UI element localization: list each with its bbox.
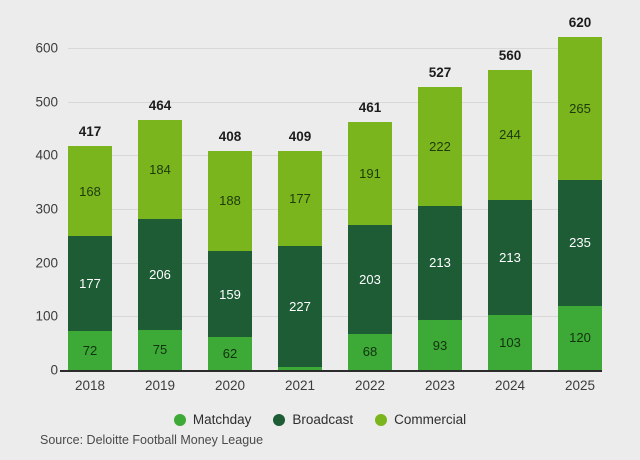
stacked-bar[interactable]: 120235265620 xyxy=(558,37,602,370)
x-axis-tick-label: 2020 xyxy=(208,378,252,393)
bar-segment-value: 75 xyxy=(153,343,167,356)
bar-segment-value: 177 xyxy=(79,277,101,290)
stacked-bar[interactable]: 62159188408 xyxy=(208,151,252,370)
bar-total-label: 408 xyxy=(219,129,242,144)
y-axis-tick-label: 0 xyxy=(50,363,58,378)
bar-segment-value: 206 xyxy=(149,268,171,281)
x-axis-tick-label: 2023 xyxy=(418,378,462,393)
bar-segment-value: 188 xyxy=(219,194,241,207)
bar-segment-commercial[interactable]: 244 xyxy=(488,70,532,201)
bar-segment-commercial[interactable]: 191 xyxy=(348,122,392,225)
bar-column[interactable]: 75206184464 xyxy=(138,48,182,370)
source-caption: Source: Deloitte Football Money League xyxy=(40,433,263,447)
bar-segment-value: 203 xyxy=(359,273,381,286)
x-axis-tick-label: 2025 xyxy=(558,378,602,393)
legend-label: Matchday xyxy=(193,412,252,427)
bar-total-label: 461 xyxy=(359,100,382,115)
bar-segment-broadcast[interactable]: 213 xyxy=(418,206,462,320)
bar-segment-value: 244 xyxy=(499,128,521,141)
x-axis-tick-label: 2019 xyxy=(138,378,182,393)
bar-segment-value: 68 xyxy=(363,345,377,358)
y-axis-tick-label: 600 xyxy=(35,41,58,56)
bar-segment-value: 159 xyxy=(219,288,241,301)
y-axis-tick-label: 400 xyxy=(35,148,58,163)
stacked-bar[interactable]: 72177168417 xyxy=(68,146,112,370)
chart-legend: MatchdayBroadcastCommercial xyxy=(0,412,640,427)
bar-segment-value: 168 xyxy=(79,185,101,198)
x-axis-baseline xyxy=(60,370,602,372)
bar-segment-broadcast[interactable]: 227 xyxy=(278,246,322,368)
bar-column[interactable]: 68203191461 xyxy=(348,48,392,370)
legend-color-swatch-icon xyxy=(174,414,186,426)
bar-segment-value: 265 xyxy=(569,102,591,115)
bar-segment-value: 235 xyxy=(569,236,591,249)
bar-segment-matchday[interactable]: 62 xyxy=(208,337,252,370)
bar-segment-value: 184 xyxy=(149,163,171,176)
stacked-bar[interactable]: 93213222527 xyxy=(418,87,462,370)
stacked-bar[interactable]: 68203191461 xyxy=(348,122,392,370)
bar-column[interactable]: 62159188408 xyxy=(208,48,252,370)
bar-segment-commercial[interactable]: 222 xyxy=(418,87,462,206)
stacked-bar[interactable]: 227177409 xyxy=(278,151,322,370)
bar-segment-matchday[interactable]: 75 xyxy=(138,330,182,370)
bar-column[interactable]: 72177168417 xyxy=(68,48,112,370)
legend-color-swatch-icon xyxy=(375,414,387,426)
bar-total-label: 464 xyxy=(149,98,172,113)
x-axis-tick-label: 2024 xyxy=(488,378,532,393)
bar-segment-broadcast[interactable]: 213 xyxy=(488,200,532,314)
legend-color-swatch-icon xyxy=(273,414,285,426)
bar-segment-commercial[interactable]: 265 xyxy=(558,37,602,179)
y-axis-tick-label: 100 xyxy=(35,309,58,324)
stacked-bar[interactable]: 75206184464 xyxy=(138,120,182,370)
bar-segment-value: 72 xyxy=(83,344,97,357)
bar-segment-broadcast[interactable]: 235 xyxy=(558,180,602,306)
y-axis-tick-label: 200 xyxy=(35,255,58,270)
bar-segment-commercial[interactable]: 177 xyxy=(278,151,322,246)
x-axis-tick-label: 2022 xyxy=(348,378,392,393)
legend-label: Broadcast xyxy=(292,412,353,427)
bar-segment-matchday[interactable]: 120 xyxy=(558,306,602,370)
legend-item[interactable]: Matchday xyxy=(174,412,252,427)
bar-segment-commercial[interactable]: 168 xyxy=(68,146,112,236)
y-axis: 0100200300400500600 xyxy=(0,48,58,370)
bar-segment-broadcast[interactable]: 203 xyxy=(348,225,392,334)
bar-total-label: 409 xyxy=(289,129,312,144)
bar-total-label: 527 xyxy=(429,65,452,80)
bar-segment-value: 222 xyxy=(429,140,451,153)
legend-item[interactable]: Commercial xyxy=(375,412,466,427)
bar-column[interactable]: 103213244560 xyxy=(488,48,532,370)
x-axis-tick-label: 2018 xyxy=(68,378,112,393)
bar-segment-commercial[interactable]: 188 xyxy=(208,151,252,252)
bar-total-label: 620 xyxy=(569,15,592,30)
bar-segment-broadcast[interactable]: 177 xyxy=(68,236,112,331)
bar-segment-matchday[interactable]: 93 xyxy=(418,320,462,370)
bar-group: 7217716841775206184464621591884082271774… xyxy=(68,48,602,370)
bar-segment-value: 177 xyxy=(289,192,311,205)
chart-container: 0100200300400500600 72177168417752061844… xyxy=(0,0,640,460)
stacked-bar[interactable]: 103213244560 xyxy=(488,70,532,371)
x-axis-tick-label: 2021 xyxy=(278,378,322,393)
x-axis-tick-labels: 20182019202020212022202320242025 xyxy=(68,378,602,393)
bar-segment-matchday[interactable]: 72 xyxy=(68,331,112,370)
y-axis-tick-label: 500 xyxy=(35,94,58,109)
bar-segment-commercial[interactable]: 184 xyxy=(138,120,182,219)
bar-total-label: 417 xyxy=(79,124,102,139)
bar-segment-value: 103 xyxy=(499,336,521,349)
legend-label: Commercial xyxy=(394,412,466,427)
bar-segment-value: 62 xyxy=(223,347,237,360)
bar-segment-value: 191 xyxy=(359,167,381,180)
bar-segment-value: 227 xyxy=(289,300,311,313)
y-axis-tick-label: 300 xyxy=(35,202,58,217)
bar-segment-value: 213 xyxy=(499,251,521,264)
plot-area: 7217716841775206184464621591884082271774… xyxy=(68,48,602,370)
bar-segment-value: 93 xyxy=(433,339,447,352)
bar-column[interactable]: 120235265620 xyxy=(558,48,602,370)
bar-total-label: 560 xyxy=(499,48,522,63)
bar-segment-broadcast[interactable]: 159 xyxy=(208,251,252,336)
legend-item[interactable]: Broadcast xyxy=(273,412,353,427)
bar-segment-broadcast[interactable]: 206 xyxy=(138,219,182,330)
bar-column[interactable]: 227177409 xyxy=(278,48,322,370)
bar-segment-value: 213 xyxy=(429,256,451,269)
bar-segment-value: 120 xyxy=(569,331,591,344)
bar-segment-matchday[interactable]: 103 xyxy=(488,315,532,370)
bar-segment-matchday[interactable]: 68 xyxy=(348,334,392,370)
bar-column[interactable]: 93213222527 xyxy=(418,48,462,370)
